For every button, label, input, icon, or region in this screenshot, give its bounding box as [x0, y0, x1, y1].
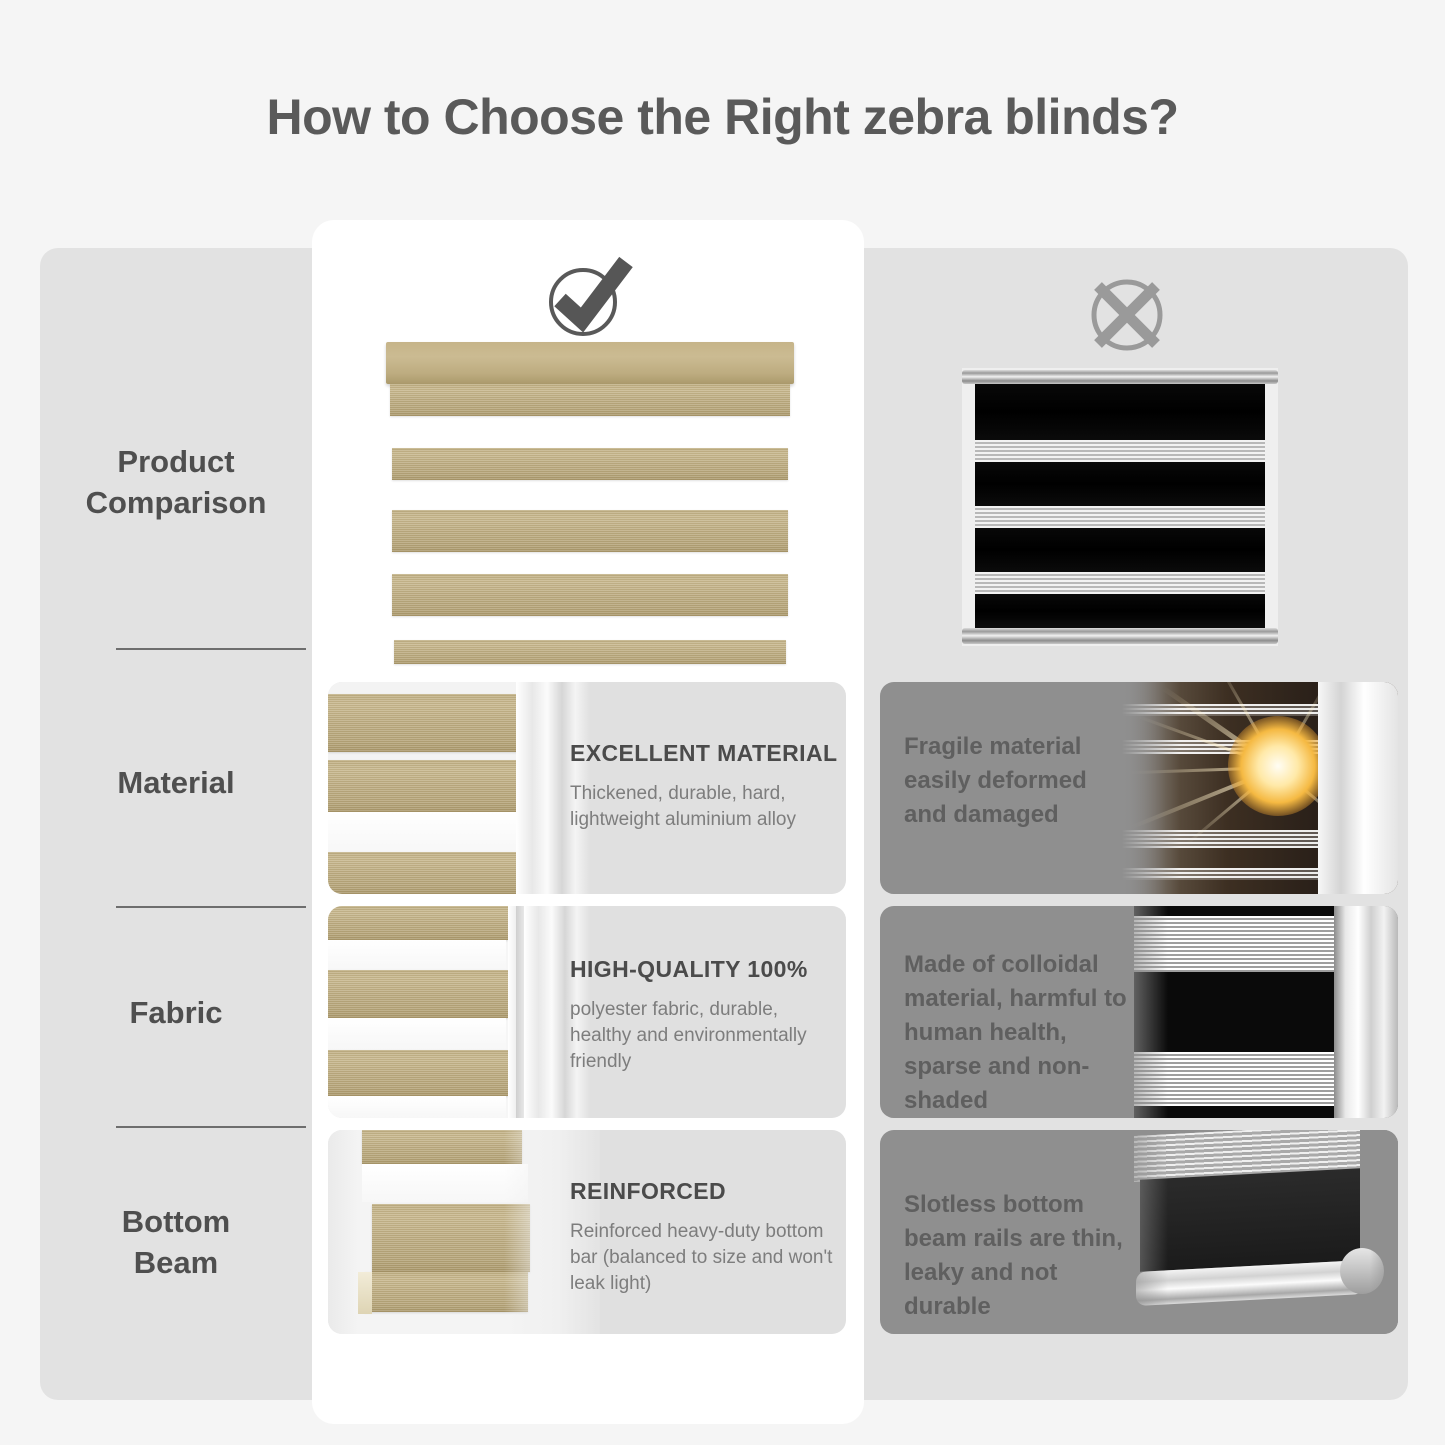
row-label-material: Material [40, 753, 312, 813]
feature-heading-fabric: HIGH-QUALITY 100% [570, 956, 842, 983]
row-label-product-comparison: Product Comparison [40, 418, 312, 548]
cross-circle-icon [1082, 270, 1172, 360]
feature-body-fabric: polyester fabric, durable, healthy and e… [570, 997, 842, 1076]
feature-card-fabric-good: HIGH-QUALITY 100% polyester fabric, dura… [328, 906, 846, 1118]
feature-text-bottom-beam-bad: Slotless bottom beam rails are thin, lea… [904, 1188, 1144, 1324]
row-divider-1 [116, 648, 306, 650]
row-divider-3 [116, 1126, 306, 1128]
feature-heading-bottom-beam: REINFORCED [570, 1178, 846, 1205]
beige-reinforced-bottom-bar-photo [328, 1130, 600, 1334]
feature-card-bottom-beam-bad: Slotless bottom beam rails are thin, lea… [880, 1130, 1398, 1334]
row-label-text: Product Comparison [86, 442, 267, 524]
beige-blind-fabric-photo [328, 906, 590, 1118]
black-blind-fabric-photo [1116, 906, 1398, 1118]
beige-zebra-blind-photo [386, 342, 794, 664]
row-label-bottom-beam: Bottom Beam [40, 1178, 312, 1308]
row-label-fabric: Fabric [40, 983, 312, 1043]
row-label-text: Bottom Beam [122, 1202, 230, 1284]
slotless-thin-bottom-rail-photo [1110, 1130, 1398, 1334]
feature-body-bottom-beam: Reinforced heavy-duty bottom bar (balanc… [570, 1219, 846, 1298]
feature-text-material-bad: Fragile material easily deformed and dam… [904, 730, 1136, 832]
feature-text-fabric-bad: Made of colloidal material, harmful to h… [904, 948, 1148, 1118]
page-title: How to Choose the Right zebra blinds? [0, 88, 1445, 146]
feature-card-material-bad: Fragile material easily deformed and dam… [880, 682, 1398, 894]
feature-heading-material: EXCELLENT MATERIAL [570, 740, 838, 767]
feature-card-fabric-bad: Made of colloidal material, harmful to h… [880, 906, 1398, 1118]
row-label-text: Fabric [129, 993, 222, 1034]
row-label-text: Material [117, 763, 234, 804]
row-label-column: Product Comparison Material Fabric Botto… [40, 248, 312, 1400]
feature-card-material-good: EXCELLENT MATERIAL Thickened, durable, h… [328, 682, 846, 894]
sun-glare-window-photo [1122, 682, 1398, 894]
check-circle-icon [538, 252, 638, 342]
feature-body-material: Thickened, durable, hard, lightweight al… [570, 781, 838, 833]
feature-card-bottom-beam-good: REINFORCED Reinforced heavy-duty bottom … [328, 1130, 846, 1334]
row-divider-2 [116, 906, 306, 908]
infographic-page: How to Choose the Right zebra blinds? Pr… [0, 0, 1445, 1445]
beige-blind-window-frame-photo [328, 682, 590, 894]
black-zebra-blind-photo [962, 368, 1278, 646]
